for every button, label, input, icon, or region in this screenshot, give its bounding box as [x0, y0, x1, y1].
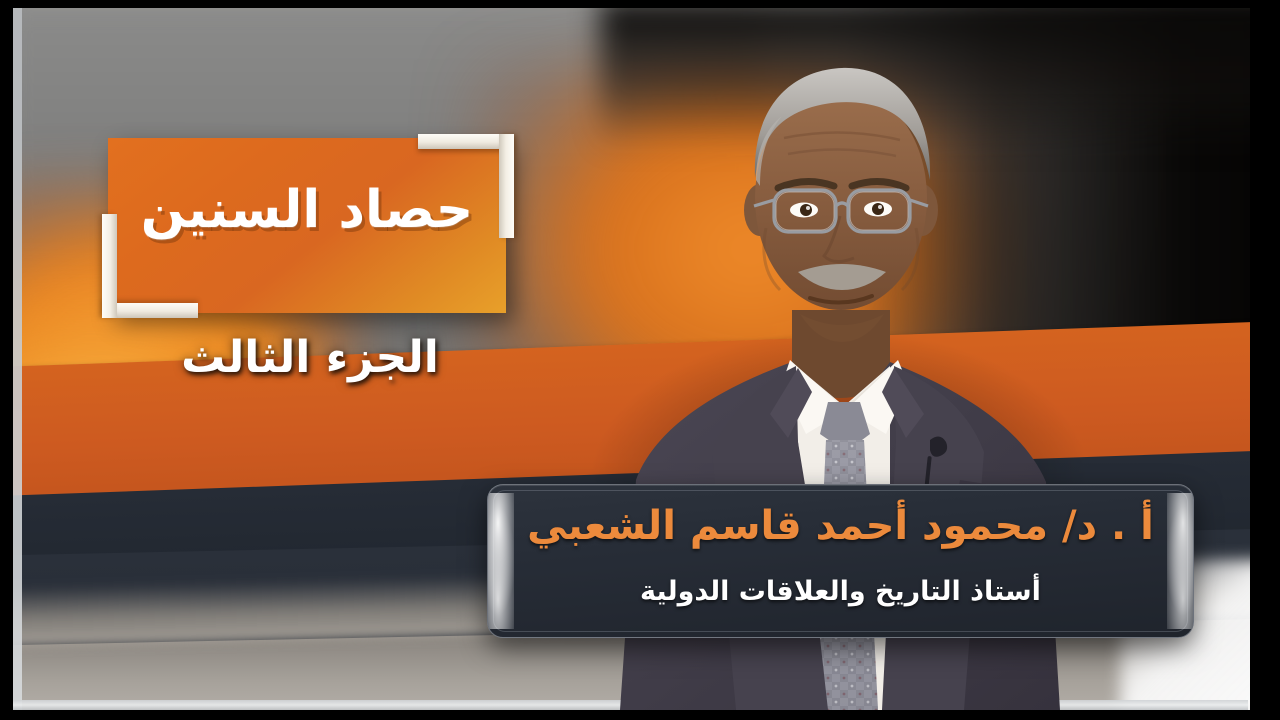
guest-role: أستاذ التاريخ والعلاقات الدولية — [488, 577, 1193, 607]
letterbox-bar-bottom — [0, 710, 1280, 720]
banner-corner-bottom-left — [102, 214, 198, 318]
banner-corner-bottom-left-vertical — [102, 214, 117, 318]
video-frame: حصاد السنين الجزء الثالث أ . د/ محمود أح… — [0, 0, 1280, 720]
letterbox-bar-top — [0, 0, 1280, 8]
guest-name: أ . د/ محمود أحمد قاسم الشعبي — [488, 505, 1193, 548]
letterbox-bar-left — [0, 0, 13, 720]
letterbox-bar-right — [1250, 0, 1280, 720]
program-subtitle: الجزء الثالث — [100, 332, 520, 383]
banner-corner-top-right-vertical — [499, 134, 514, 238]
program-title-banner: حصاد السنين — [108, 138, 506, 313]
lower-third-nameplate: أ . د/ محمود أحمد قاسم الشعبي أستاذ التا… — [487, 484, 1194, 638]
banner-corner-top-right — [418, 134, 514, 238]
frame-edge-left — [13, 8, 22, 712]
